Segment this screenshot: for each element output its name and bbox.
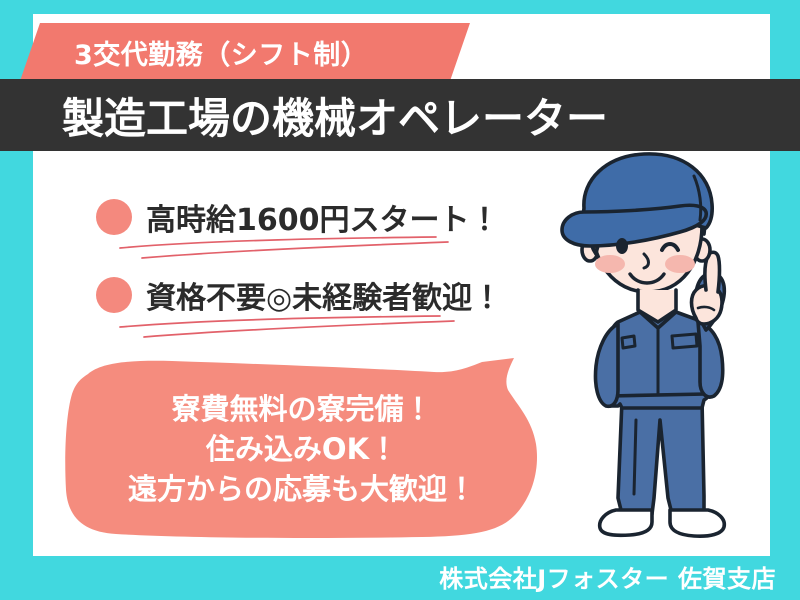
bullet-dot-icon [96, 199, 132, 235]
job-title-bar: 製造工場の機械オペレーター [0, 79, 800, 151]
highlight-speech-bubble: 寮費無料の寮完備！ 住み込みOK！ 遠方からの応募も大歓迎！ [62, 358, 572, 540]
job-ad-banner: 3交代勤務（シフト制） 製造工場の機械オペレーター 高時給1600円スタート！ … [0, 0, 800, 600]
list-item: 高時給1600円スタート！ [96, 190, 502, 244]
speech-bubble-text: 寮費無料の寮完備！ 住み込みOK！ 遠方からの応募も大歓迎！ [62, 358, 542, 540]
underline-squiggle-icon [118, 314, 518, 340]
ribbon-label: 3交代勤務（シフト制） [20, 23, 470, 81]
bubble-line: 寮費無料の寮完備！ [171, 390, 432, 428]
underline-squiggle-icon [118, 236, 518, 262]
bubble-line: 住み込みOK！ [206, 430, 398, 468]
footer: 株式会社Jフォスター 佐賀支店 [0, 559, 800, 594]
bullet-label: 資格不要◎未経験者歓迎！ [146, 273, 502, 317]
shift-type-ribbon: 3交代勤務（シフト制） [20, 23, 470, 81]
bullet-label: 高時給1600円スタート！ [146, 195, 500, 239]
worker-character-illustration [556, 150, 796, 556]
benefit-bullet-list: 高時給1600円スタート！ 資格不要◎未経験者歓迎！ [96, 190, 502, 346]
company-name: 株式会社Jフォスター 佐賀支店 [439, 565, 776, 593]
bubble-line: 遠方からの応募も大歓迎！ [128, 470, 476, 508]
page-title: 製造工場の機械オペレーター [0, 85, 608, 146]
worker-svg [556, 150, 796, 556]
list-item: 資格不要◎未経験者歓迎！ [96, 268, 502, 322]
bullet-dot-icon [96, 277, 132, 313]
